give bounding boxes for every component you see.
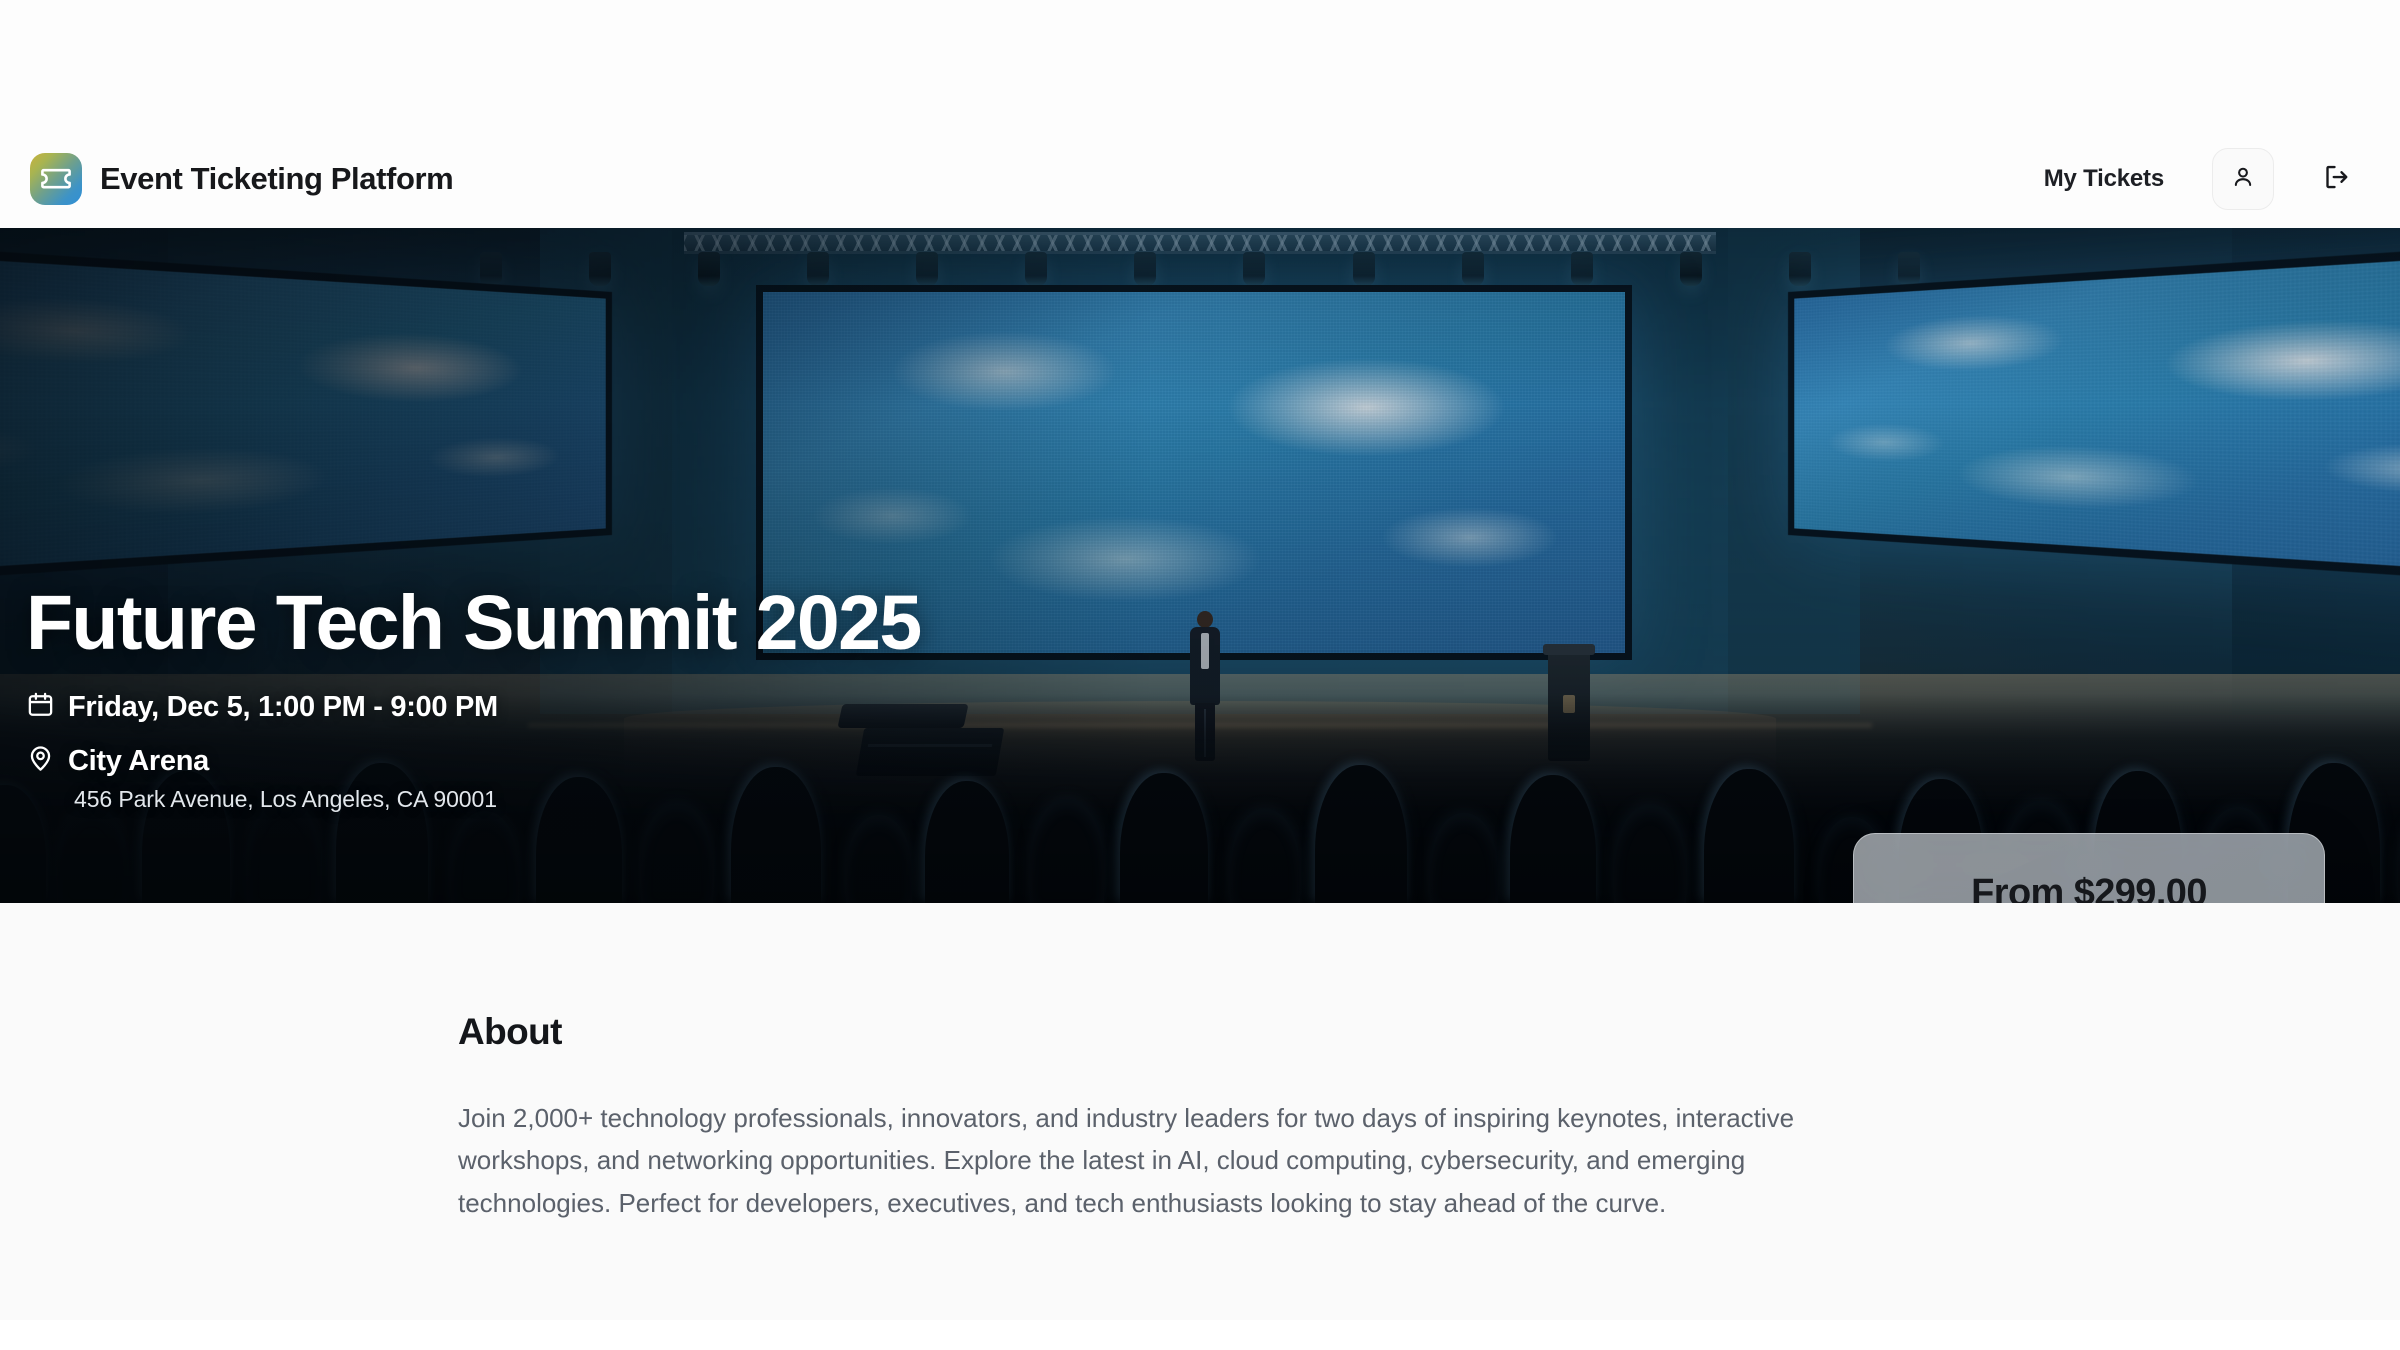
logout-icon <box>2322 162 2352 197</box>
calendar-icon <box>26 690 55 724</box>
event-detail-page: Event Ticketing Platform My Tickets <box>0 0 2400 1350</box>
hero-content: Future Tech Summit 2025 Friday, Dec 5, 1… <box>26 583 921 813</box>
map-pin-icon <box>26 744 55 778</box>
about-inner: About Join 2,000+ technology professiona… <box>458 1011 1894 1224</box>
event-date-row: Friday, Dec 5, 1:00 PM - 9:00 PM <box>26 690 921 724</box>
page-bottom-space <box>0 1320 2400 1350</box>
event-venue-row: City Arena <box>26 744 921 778</box>
brand-title: Event Ticketing Platform <box>100 161 453 197</box>
logout-button[interactable] <box>2306 148 2368 210</box>
nav-my-tickets[interactable]: My Tickets <box>2018 165 2190 193</box>
event-date: Friday, Dec 5, 1:00 PM - 9:00 PM <box>68 691 498 724</box>
account-button[interactable] <box>2212 148 2274 210</box>
event-address: 456 Park Avenue, Los Angeles, CA 90001 <box>74 786 921 813</box>
hero-banner: Future Tech Summit 2025 Friday, Dec 5, 1… <box>0 228 2400 903</box>
site-header: Event Ticketing Platform My Tickets <box>0 130 2400 228</box>
about-heading: About <box>458 1011 1894 1053</box>
brand[interactable]: Event Ticketing Platform <box>30 153 453 205</box>
event-title: Future Tech Summit 2025 <box>26 583 921 664</box>
about-body: Join 2,000+ technology professionals, in… <box>458 1097 1894 1224</box>
ticket-price: From $299.00 <box>1971 872 2207 903</box>
ticket-icon <box>30 153 82 205</box>
page-top-gap <box>0 0 2400 130</box>
ticket-purchase-card: From $299.00 Get Tickets <box>1853 833 2325 903</box>
event-venue: City Arena <box>68 745 209 778</box>
about-section: About Join 2,000+ technology professiona… <box>0 903 2400 1320</box>
header-nav: My Tickets <box>2018 148 2368 210</box>
user-icon <box>2230 164 2256 195</box>
